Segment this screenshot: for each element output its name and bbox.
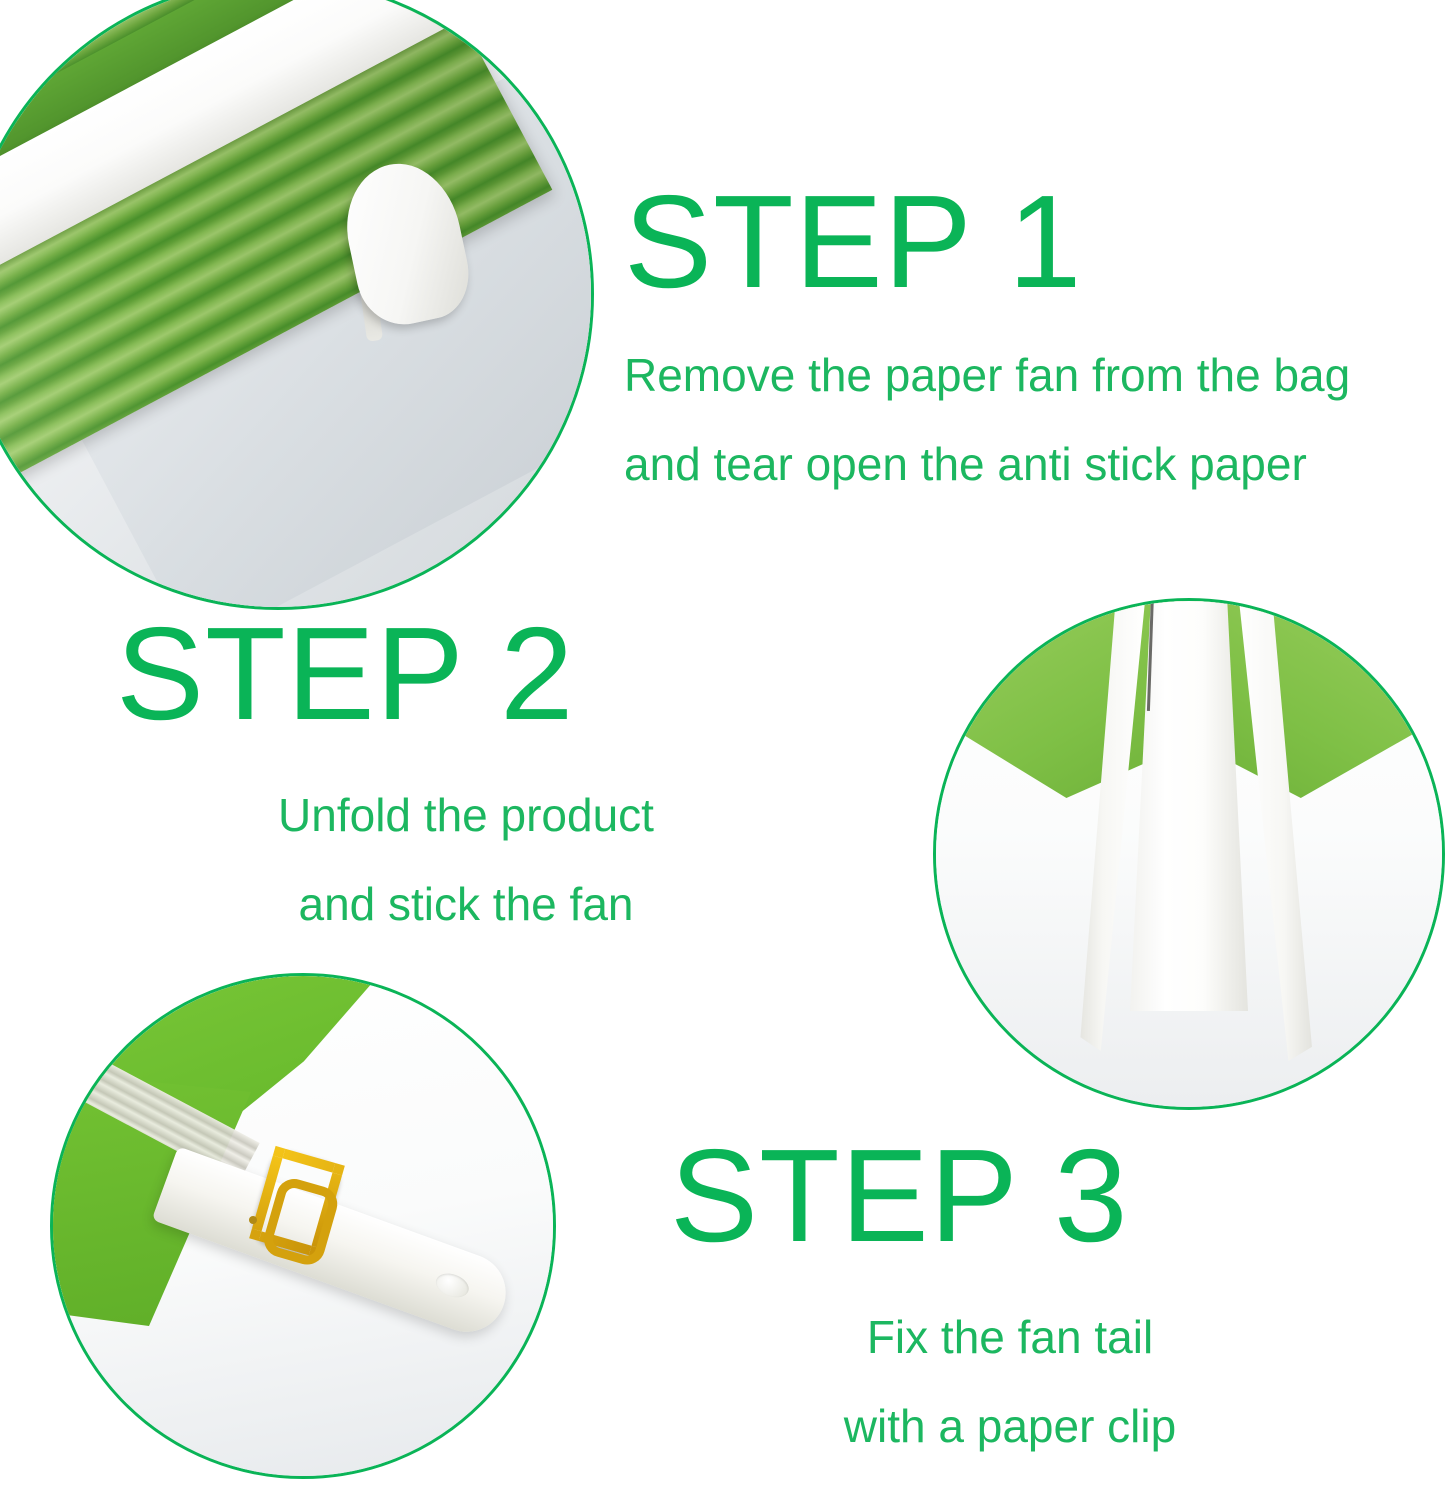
step-2-line-2: and stick the fan — [116, 881, 816, 928]
step-2-title: STEP 2 — [116, 608, 816, 740]
step-1-line-2: and tear open the anti stick paper — [624, 441, 1350, 488]
clip-pivot-dot — [249, 1216, 257, 1224]
step-2-photo — [936, 601, 1442, 1107]
step-1-title: STEP 1 — [624, 176, 1350, 308]
step-2-line-1: Unfold the product — [116, 792, 816, 839]
step-1-line-1: Remove the paper fan from the bag — [624, 352, 1350, 399]
step-1-photo-circle — [0, 0, 594, 610]
instruction-infographic: STEP 1 Remove the paper fan from the bag… — [0, 0, 1445, 1498]
step-3-line-2: with a paper clip — [660, 1403, 1360, 1450]
step-2-description: Unfold the product and stick the fan — [116, 792, 816, 928]
step-2-photo-circle — [933, 598, 1445, 1110]
step-3-photo-circle — [50, 973, 556, 1479]
step-1-photo — [0, 0, 591, 607]
step-3-photo — [53, 976, 553, 1476]
step-3-title: STEP 3 — [660, 1130, 1360, 1262]
step-2-text-block: STEP 2 Unfold the product and stick the … — [116, 608, 816, 928]
step-3-description: Fix the fan tail with a paper clip — [660, 1314, 1360, 1450]
step-1-description: Remove the paper fan from the bag and te… — [624, 352, 1350, 488]
step-1-text-block: STEP 1 Remove the paper fan from the bag… — [624, 176, 1350, 488]
step-3-text-block: STEP 3 Fix the fan tail with a paper cli… — [660, 1130, 1360, 1450]
step-3-line-1: Fix the fan tail — [660, 1314, 1360, 1361]
